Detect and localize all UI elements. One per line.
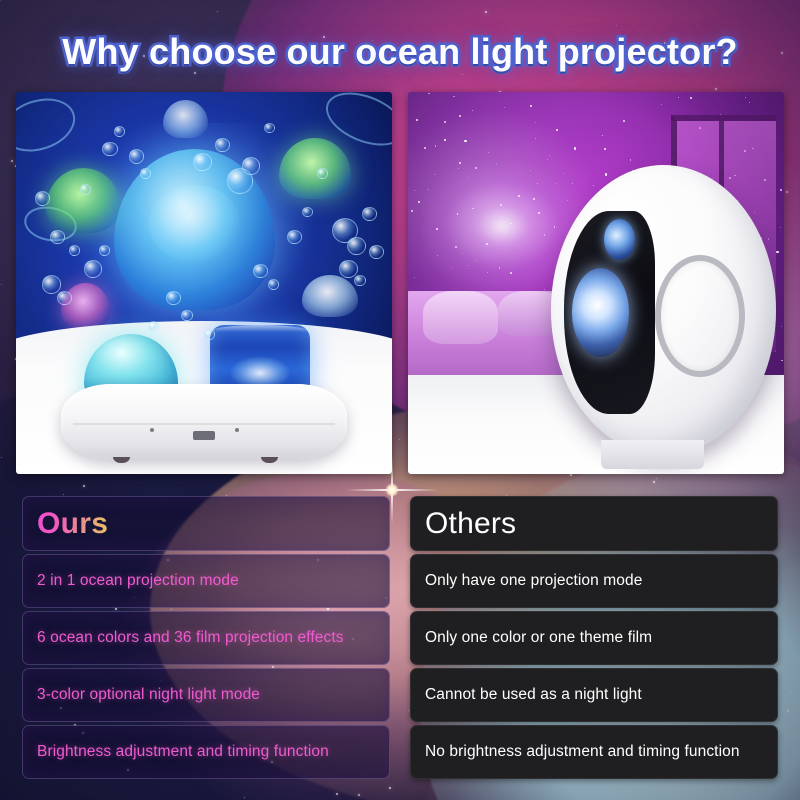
- table-row: Only have one projection mode: [410, 554, 778, 608]
- projected-star: [500, 204, 502, 206]
- bubble: [204, 329, 215, 340]
- bubble: [69, 245, 80, 256]
- projected-star: [604, 148, 606, 150]
- indicator-led: [235, 428, 239, 432]
- comparison-table: Ours 2 in 1 ocean projection mode 6 ocea…: [0, 496, 800, 784]
- table-row: 3-color optional night light mode: [22, 668, 390, 722]
- table-row: 2 in 1 ocean projection mode: [22, 554, 390, 608]
- bubble: [181, 310, 192, 321]
- others-feature-label: Only one color or one theme film: [425, 629, 652, 647]
- star-laser-lens: [604, 219, 635, 260]
- jellyfish-main-inner: [149, 185, 240, 262]
- bubble: [347, 237, 366, 255]
- projected-star: [547, 159, 548, 160]
- ours-feature-label: 6 ocean colors and 36 film projection ef…: [37, 629, 344, 647]
- ours-feature-label: Brightness adjustment and timing functio…: [37, 743, 329, 761]
- bubble: [42, 275, 61, 293]
- bubble: [362, 207, 377, 222]
- dual-dome-projector-device: [61, 321, 347, 459]
- nebula-projection-lens: [572, 268, 630, 357]
- ours-feature-label: 2 in 1 ocean projection mode: [37, 572, 239, 590]
- bubble: [102, 142, 117, 157]
- base-seam: [73, 423, 336, 425]
- projected-star: [499, 267, 500, 268]
- projected-star: [459, 115, 461, 117]
- bubble: [193, 153, 212, 171]
- projected-star: [537, 183, 538, 184]
- projected-star: [459, 162, 461, 164]
- column-header-others-label: Others: [425, 507, 516, 541]
- column-header-ours-label: Ours: [37, 507, 108, 541]
- bubble: [148, 321, 159, 332]
- projected-star: [544, 234, 545, 235]
- projected-star: [455, 246, 456, 247]
- table-row: No brightness adjustment and timing func…: [410, 725, 778, 779]
- jellyfish-white-right: [302, 275, 358, 317]
- table-row: 6 ocean colors and 36 film projection ef…: [22, 611, 390, 665]
- projector-stand: [601, 440, 705, 469]
- projected-star: [437, 255, 438, 256]
- table-row: Cannot be used as a night light: [410, 668, 778, 722]
- projected-star: [486, 243, 488, 245]
- side-accent-ring: [655, 255, 745, 377]
- ocean-jellyfish-projection-photo: [16, 92, 392, 474]
- comparison-column-ours: Ours 2 in 1 ocean projection mode 6 ocea…: [22, 496, 390, 782]
- projected-star: [776, 251, 778, 253]
- projected-star: [781, 326, 782, 327]
- projected-star: [780, 189, 782, 191]
- bubble: [287, 230, 302, 245]
- projected-star: [451, 267, 452, 268]
- bubble: [80, 184, 91, 195]
- projected-star: [538, 212, 540, 214]
- projected-star: [533, 198, 535, 200]
- page-title: Why choose our ocean light projector?: [0, 31, 800, 73]
- bubble: [99, 245, 110, 256]
- bubble: [129, 149, 144, 164]
- others-feature-label: Only have one projection mode: [425, 572, 642, 590]
- table-row: Brightness adjustment and timing functio…: [22, 725, 390, 779]
- projected-star: [435, 145, 436, 146]
- projected-star: [475, 167, 476, 168]
- projected-star: [556, 129, 558, 131]
- others-feature-label: Cannot be used as a night light: [425, 686, 642, 704]
- bubble: [35, 191, 50, 206]
- indicator-led: [150, 428, 154, 432]
- comparison-column-others: Others Only have one projection mode Onl…: [410, 496, 778, 782]
- lens-plate: [564, 211, 654, 414]
- others-feature-label: No brightness adjustment and timing func…: [425, 743, 740, 761]
- projected-star: [444, 121, 446, 123]
- projected-star: [467, 177, 468, 178]
- projected-star: [535, 122, 536, 123]
- bubble: [354, 275, 365, 286]
- disc-star-projector-device: [551, 165, 777, 455]
- column-header-others: Others: [410, 496, 778, 551]
- column-header-ours: Ours: [22, 496, 390, 551]
- projected-star: [408, 92, 409, 93]
- projected-star: [504, 107, 505, 108]
- projected-star: [510, 272, 512, 274]
- galaxy-bedroom-projection-photo: [408, 92, 784, 474]
- projected-star: [414, 277, 415, 278]
- projected-star: [780, 227, 781, 228]
- ours-feature-label: 3-color optional night light mode: [37, 686, 260, 704]
- drum-rim: [210, 325, 310, 332]
- table-row: Only one color or one theme film: [410, 611, 778, 665]
- projected-star: [530, 170, 531, 171]
- projected-star: [630, 159, 631, 160]
- projected-star: [424, 147, 426, 149]
- product-photo-row: [0, 92, 800, 474]
- projected-star: [464, 140, 466, 142]
- projected-star: [414, 190, 415, 191]
- usb-port: [193, 431, 216, 441]
- bubble: [50, 230, 65, 245]
- pillow: [423, 291, 498, 344]
- projected-star: [416, 119, 418, 121]
- projector-base: [61, 384, 347, 458]
